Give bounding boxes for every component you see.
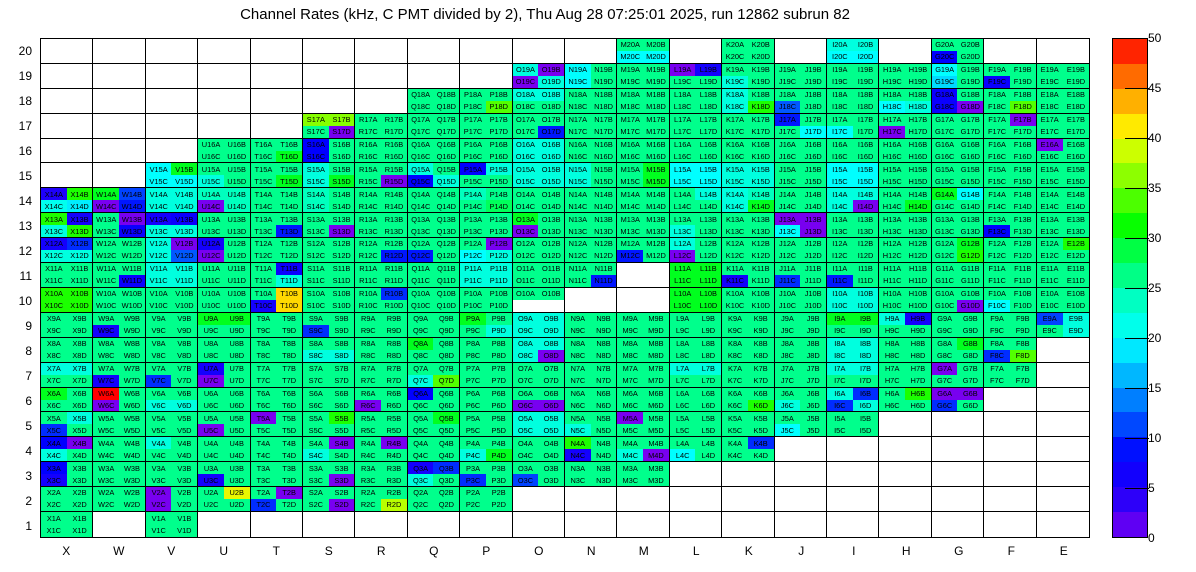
channel-subcell[interactable]: T16B	[276, 139, 302, 151]
channel-subcell[interactable]: R13C	[355, 225, 381, 237]
module-cell[interactable]: H8AH8BH8CH8D	[879, 338, 931, 363]
channel-subcell[interactable]: P13A	[460, 213, 486, 225]
channel-subcell[interactable]: E19A	[1037, 64, 1063, 76]
module-cell[interactable]: Q16AQ16BQ16CQ16D	[408, 139, 460, 164]
channel-subcell[interactable]: S11D	[329, 275, 355, 287]
channel-subcell[interactable]: T5C	[251, 424, 277, 436]
channel-subcell[interactable]: V13B	[171, 213, 197, 225]
channel-subcell[interactable]: P17D	[486, 126, 512, 138]
channel-subcell[interactable]: M9B	[643, 313, 669, 325]
channel-subcell[interactable]: G20C	[932, 51, 958, 63]
channel-subcell[interactable]: S7B	[329, 363, 355, 375]
channel-subcell[interactable]: I6C	[827, 400, 853, 412]
module-cell[interactable]: O14AO14BO14CO14D	[513, 188, 565, 213]
channel-subcell[interactable]: K12D	[748, 250, 774, 262]
module-cell[interactable]: H14AH14BH14CH14D	[879, 188, 931, 213]
channel-subcell[interactable]: I16B	[853, 139, 879, 151]
channel-subcell[interactable]: O13D	[538, 225, 564, 237]
channel-subcell[interactable]: N6A	[565, 388, 591, 400]
channel-subcell[interactable]: J16B	[800, 139, 826, 151]
module-cell[interactable]	[303, 512, 355, 537]
channel-subcell[interactable]: Q3A	[408, 462, 434, 474]
module-cell[interactable]: T16AT16BT16CT16D	[251, 139, 303, 164]
channel-subcell[interactable]: Q4C	[408, 449, 434, 461]
channel-subcell[interactable]: I18D	[853, 101, 879, 113]
channel-subcell[interactable]: L17C	[670, 126, 696, 138]
channel-subcell[interactable]: E13C	[1037, 225, 1063, 237]
channel-subcell[interactable]: S14D	[329, 200, 355, 212]
channel-subcell[interactable]: R9D	[381, 325, 407, 337]
channel-subcell[interactable]: R17B	[381, 114, 407, 126]
module-cell[interactable]: F13AF13BF13CF13D	[984, 213, 1036, 238]
channel-subcell[interactable]: X10B	[67, 288, 93, 300]
channel-subcell[interactable]: F17C	[984, 126, 1010, 138]
channel-subcell[interactable]: H8B	[905, 338, 931, 350]
channel-subcell[interactable]: W5C	[93, 424, 119, 436]
module-cell[interactable]: S10AS10BS10CS10D	[303, 288, 355, 313]
channel-subcell[interactable]: O17D	[538, 126, 564, 138]
module-cell[interactable]: E9AE9BE9CE9D	[1037, 313, 1089, 338]
channel-subcell[interactable]: W6D	[119, 400, 145, 412]
channel-subcell[interactable]: W3D	[119, 474, 145, 486]
channel-subcell[interactable]: E11C	[1037, 275, 1063, 287]
module-cell[interactable]	[932, 462, 984, 487]
module-cell[interactable]: H12AH12BH12CH12D	[879, 238, 931, 263]
channel-subcell[interactable]: S6C	[303, 400, 329, 412]
channel-subcell[interactable]: I12C	[827, 250, 853, 262]
channel-subcell[interactable]: M6A	[617, 388, 643, 400]
module-cell[interactable]: I6AI6BI6CI6D	[827, 388, 879, 413]
module-cell[interactable]: X11AX11BX11CX11D	[41, 263, 93, 288]
module-cell[interactable]: R10AR10BR10CR10D	[355, 288, 407, 313]
module-cell[interactable]: T12AT12BT12CT12D	[251, 238, 303, 263]
channel-subcell[interactable]: S10C	[303, 300, 329, 312]
module-cell[interactable]: O6AO6BO6CO6D	[513, 388, 565, 413]
module-cell[interactable]: L16AL16BL16CL16D	[670, 139, 722, 164]
channel-subcell[interactable]: O6D	[538, 400, 564, 412]
module-cell[interactable]: V12AV12BV12CV12D	[146, 238, 198, 263]
module-cell[interactable]: M12AM12BM12CM12D	[617, 238, 669, 263]
channel-subcell[interactable]: U4C	[198, 449, 224, 461]
channel-subcell[interactable]: K5C	[722, 424, 748, 436]
channel-subcell[interactable]: K10B	[748, 288, 774, 300]
channel-subcell[interactable]: T2D	[276, 499, 302, 511]
channel-subcell[interactable]: X1B	[67, 512, 93, 524]
module-cell[interactable]: K15AK15BK15CK15D	[722, 163, 774, 188]
channel-subcell[interactable]: V9A	[146, 313, 172, 325]
channel-subcell[interactable]: V4B	[171, 437, 197, 449]
channel-subcell[interactable]: K14D	[748, 200, 774, 212]
channel-subcell[interactable]: E16D	[1063, 151, 1089, 163]
module-cell[interactable]: J5AJ5BJ5CJ5D	[775, 412, 827, 437]
channel-subcell[interactable]: I20C	[827, 51, 853, 63]
channel-subcell[interactable]: K4C	[722, 449, 748, 461]
channel-subcell[interactable]: R4A	[355, 437, 381, 449]
module-cell[interactable]	[879, 437, 931, 462]
module-cell[interactable]: W13AW13BW13CW13D	[93, 213, 145, 238]
channel-subcell[interactable]: L9A	[670, 313, 696, 325]
channel-subcell[interactable]: N7D	[591, 375, 617, 387]
channel-subcell[interactable]: Q16D	[433, 151, 459, 163]
channel-subcell[interactable]: N12A	[565, 238, 591, 250]
channel-subcell[interactable]: X9D	[67, 325, 93, 337]
module-cell[interactable]: M16AM16BM16CM16D	[617, 139, 669, 164]
channel-subcell[interactable]: U7D	[224, 375, 250, 387]
channel-subcell[interactable]: I10D	[853, 300, 879, 312]
module-cell[interactable]: S3AS3BS3CS3D	[303, 462, 355, 487]
channel-subcell[interactable]: F16C	[984, 151, 1010, 163]
module-cell[interactable]: Q17AQ17BQ17CQ17D	[408, 114, 460, 139]
module-cell[interactable]: J10AJ10BJ10CJ10D	[775, 288, 827, 313]
channel-subcell[interactable]: U14C	[198, 200, 224, 212]
channel-subcell[interactable]: S14C	[303, 200, 329, 212]
channel-subcell[interactable]: L11D	[695, 275, 721, 287]
channel-subcell[interactable]: T7A	[251, 363, 277, 375]
channel-subcell[interactable]: M5A	[617, 412, 643, 424]
channel-subcell[interactable]: P16D	[486, 151, 512, 163]
channel-subcell[interactable]: T2C	[251, 499, 277, 511]
module-cell[interactable]: T14AT14BT14CT14D	[251, 188, 303, 213]
module-cell[interactable]: X2AX2BX2CX2D	[41, 487, 93, 512]
channel-subcell[interactable]: J18C	[775, 101, 801, 113]
channel-subcell[interactable]: V3A	[146, 462, 172, 474]
channel-subcell[interactable]: J13C	[775, 225, 801, 237]
module-cell[interactable]: X6AX6BX6CX6D	[41, 388, 93, 413]
module-cell[interactable]: Q2AQ2BQ2CQ2D	[408, 487, 460, 512]
channel-subcell[interactable]: O12C	[513, 250, 539, 262]
channel-subcell[interactable]: F18A	[984, 89, 1010, 101]
module-cell[interactable]: H9AH9BH9CH9D	[879, 313, 931, 338]
channel-subcell[interactable]: W8B	[119, 338, 145, 350]
module-cell[interactable]: U2AU2BU2CU2D	[198, 487, 250, 512]
channel-subcell[interactable]: V1A	[146, 512, 172, 524]
channel-subcell[interactable]: N19D	[591, 76, 617, 88]
module-cell[interactable]: K20AK20BK20CK20D	[722, 39, 774, 64]
channel-subcell[interactable]: R15D	[381, 175, 407, 187]
channel-subcell[interactable]: E17D	[1063, 126, 1089, 138]
module-cell[interactable]: O4AO4BO4CO4D	[513, 437, 565, 462]
channel-subcell[interactable]: S13C	[303, 225, 329, 237]
channel-subcell[interactable]: G13C	[932, 225, 958, 237]
channel-subcell[interactable]: R7C	[355, 375, 381, 387]
channel-subcell[interactable]: I5A	[827, 412, 853, 424]
module-cell[interactable]: W3AW3BW3CW3D	[93, 462, 145, 487]
channel-subcell[interactable]: G14B	[957, 188, 983, 200]
channel-subcell[interactable]: J15B	[800, 163, 826, 175]
channel-subcell[interactable]: Q5D	[433, 424, 459, 436]
module-cell[interactable]: P9AP9BP9CP9D	[460, 313, 512, 338]
channel-subcell[interactable]: W14D	[119, 200, 145, 212]
channel-subcell[interactable]: L17A	[670, 114, 696, 126]
channel-subcell[interactable]: S15B	[329, 163, 355, 175]
channel-subcell[interactable]: L14C	[670, 200, 696, 212]
channel-subcell[interactable]: I8D	[853, 350, 879, 362]
module-cell[interactable]: F8AF8BF8CF8D	[984, 338, 1036, 363]
channel-subcell[interactable]: M19C	[617, 76, 643, 88]
channel-subcell[interactable]: I8B	[853, 338, 879, 350]
channel-subcell[interactable]: E12D	[1063, 250, 1089, 262]
channel-subcell[interactable]: X1A	[41, 512, 67, 524]
channel-subcell[interactable]: U16D	[224, 151, 250, 163]
channel-subcell[interactable]: G20D	[957, 51, 983, 63]
channel-subcell[interactable]: N14D	[591, 200, 617, 212]
channel-subcell[interactable]: U5C	[198, 424, 224, 436]
channel-subcell[interactable]: N8B	[591, 338, 617, 350]
channel-subcell[interactable]: S3C	[303, 474, 329, 486]
module-cell[interactable]	[984, 39, 1036, 64]
channel-subcell[interactable]: T5A	[251, 412, 277, 424]
module-cell[interactable]	[1037, 437, 1089, 462]
channel-subcell[interactable]: U13C	[198, 225, 224, 237]
channel-subcell[interactable]: G8B	[957, 338, 983, 350]
module-cell[interactable]: J13AJ13BJ13CJ13D	[775, 213, 827, 238]
channel-subcell[interactable]: O12D	[538, 250, 564, 262]
channel-subcell[interactable]: I18B	[853, 89, 879, 101]
module-cell[interactable]: M4AM4BM4CM4D	[617, 437, 669, 462]
channel-subcell[interactable]: P17C	[460, 126, 486, 138]
module-cell[interactable]: X14AX14BX14CX14D	[41, 188, 93, 213]
channel-subcell[interactable]: W9C	[93, 325, 119, 337]
channel-subcell[interactable]: P11A	[460, 263, 486, 275]
channel-subcell[interactable]: N17C	[565, 126, 591, 138]
channel-subcell[interactable]: F19B	[1010, 64, 1036, 76]
channel-subcell[interactable]: O15D	[538, 175, 564, 187]
channel-subcell[interactable]: S4D	[329, 449, 355, 461]
channel-subcell[interactable]: E14A	[1037, 188, 1063, 200]
channel-subcell[interactable]: N7A	[565, 363, 591, 375]
channel-subcell[interactable]: N15A	[565, 163, 591, 175]
module-cell[interactable]: K8AK8BK8CK8D	[722, 338, 774, 363]
channel-subcell[interactable]: Q4A	[408, 437, 434, 449]
channel-subcell[interactable]: N16B	[591, 139, 617, 151]
channel-subcell[interactable]: I13C	[827, 225, 853, 237]
channel-subcell[interactable]: G12C	[932, 250, 958, 262]
channel-subcell[interactable]: M14A	[617, 188, 643, 200]
channel-subcell[interactable]: V12A	[146, 238, 172, 250]
module-cell[interactable]: U13AU13BU13CU13D	[198, 213, 250, 238]
channel-subcell[interactable]: V13C	[146, 225, 172, 237]
channel-subcell[interactable]: U9C	[198, 325, 224, 337]
channel-subcell[interactable]: G13D	[957, 225, 983, 237]
channel-subcell[interactable]: I5D	[853, 424, 879, 436]
module-cell[interactable]: T10AT10BT10CT10D	[251, 288, 303, 313]
channel-subcell[interactable]: U12B	[224, 238, 250, 250]
channel-subcell[interactable]: E11A	[1037, 263, 1063, 275]
module-cell[interactable]: J12AJ12BJ12CJ12D	[775, 238, 827, 263]
module-cell[interactable]: P11AP11BP11CP11D	[460, 263, 512, 288]
module-cell[interactable]	[355, 89, 407, 114]
channel-subcell[interactable]: W12D	[119, 250, 145, 262]
module-cell[interactable]	[565, 487, 617, 512]
channel-subcell[interactable]: M19A	[617, 64, 643, 76]
module-cell[interactable]: O9AO9BO9CO9D	[513, 313, 565, 338]
channel-subcell[interactable]: F16A	[984, 139, 1010, 151]
channel-subcell[interactable]: P7A	[460, 363, 486, 375]
module-cell[interactable]	[932, 512, 984, 537]
channel-subcell[interactable]: P5D	[486, 424, 512, 436]
channel-subcell[interactable]: K7C	[722, 375, 748, 387]
channel-subcell[interactable]: H9B	[905, 313, 931, 325]
channel-subcell[interactable]: V5C	[146, 424, 172, 436]
channel-subcell[interactable]: V8C	[146, 350, 172, 362]
module-cell[interactable]: O13AO13BO13CO13D	[513, 213, 565, 238]
module-cell[interactable]	[775, 512, 827, 537]
channel-subcell[interactable]: U15B	[224, 163, 250, 175]
channel-subcell[interactable]: T16C	[251, 151, 277, 163]
module-cell[interactable]: T7AT7BT7CT7D	[251, 363, 303, 388]
channel-subcell[interactable]: M9C	[617, 325, 643, 337]
channel-subcell[interactable]: I14D	[853, 200, 879, 212]
channel-subcell[interactable]: Q10A	[408, 288, 434, 300]
channel-subcell[interactable]: F11B	[1010, 263, 1036, 275]
channel-subcell[interactable]: S13D	[329, 225, 355, 237]
channel-subcell[interactable]: L10B	[695, 288, 721, 300]
module-cell[interactable]: W6AW6BW6CW6D	[93, 388, 145, 413]
channel-subcell[interactable]: T7C	[251, 375, 277, 387]
channel-subcell[interactable]: V5D	[171, 424, 197, 436]
channel-subcell[interactable]: P7D	[486, 375, 512, 387]
channel-subcell[interactable]: N19C	[565, 76, 591, 88]
channel-subcell[interactable]: G18C	[932, 101, 958, 113]
module-cell[interactable]	[93, 64, 145, 89]
module-cell[interactable]: O10AO10B	[513, 288, 565, 313]
channel-subcell[interactable]: G8A	[932, 338, 958, 350]
module-cell[interactable]: X12AX12BX12CX12D	[41, 238, 93, 263]
channel-subcell[interactable]: Q18D	[433, 101, 459, 113]
module-cell[interactable]: M7AM7BM7CM7D	[617, 363, 669, 388]
channel-subcell[interactable]: J8A	[775, 338, 801, 350]
channel-subcell[interactable]: J11B	[800, 263, 826, 275]
channel-subcell[interactable]: L6C	[670, 400, 696, 412]
channel-subcell[interactable]: J17B	[800, 114, 826, 126]
channel-subcell[interactable]: U10C	[198, 300, 224, 312]
channel-subcell[interactable]: F13B	[1010, 213, 1036, 225]
channel-subcell[interactable]: G9C	[932, 325, 958, 337]
channel-subcell[interactable]: K15D	[748, 175, 774, 187]
channel-subcell[interactable]: I12B	[853, 238, 879, 250]
channel-subcell[interactable]: L4B	[695, 437, 721, 449]
module-cell[interactable]: L12AL12BL12CL12D	[670, 238, 722, 263]
channel-subcell[interactable]: M4D	[643, 449, 669, 461]
module-cell[interactable]: P3AP3BP3CP3D	[460, 462, 512, 487]
module-cell[interactable]: J7AJ7BJ7CJ7D	[775, 363, 827, 388]
channel-subcell[interactable]: G19D	[957, 76, 983, 88]
module-cell[interactable]: O3AO3BO3CO3D	[513, 462, 565, 487]
channel-subcell[interactable]: M8B	[643, 338, 669, 350]
module-cell[interactable]: H11AH11BH11CH11D	[879, 263, 931, 288]
channel-subcell[interactable]: O11A	[513, 263, 539, 275]
module-cell[interactable]: O7AO7BO7CO7D	[513, 363, 565, 388]
module-cell[interactable]: W7AW7BW7CW7D	[93, 363, 145, 388]
channel-subcell[interactable]: Q4B	[433, 437, 459, 449]
channel-subcell[interactable]: E10C	[1037, 300, 1063, 312]
channel-subcell[interactable]: Q14C	[408, 200, 434, 212]
channel-subcell[interactable]: G14A	[932, 188, 958, 200]
channel-subcell[interactable]: W10D	[119, 300, 145, 312]
channel-subcell[interactable]: R17D	[381, 126, 407, 138]
channel-subcell[interactable]: R5A	[355, 412, 381, 424]
module-cell[interactable]: M9AM9BM9CM9D	[617, 313, 669, 338]
module-cell[interactable]: H13AH13BH13CH13D	[879, 213, 931, 238]
channel-subcell[interactable]: V12D	[171, 250, 197, 262]
channel-subcell[interactable]: Q7C	[408, 375, 434, 387]
channel-subcell[interactable]: O16D	[538, 151, 564, 163]
channel-subcell[interactable]: G8C	[932, 350, 958, 362]
channel-subcell[interactable]: U14A	[198, 188, 224, 200]
channel-subcell[interactable]: E15C	[1037, 175, 1063, 187]
channel-subcell[interactable]: F8D	[1010, 350, 1036, 362]
channel-subcell[interactable]: O8A	[513, 338, 539, 350]
channel-subcell[interactable]: M3B	[643, 462, 669, 474]
channel-subcell[interactable]: I15B	[853, 163, 879, 175]
channel-subcell[interactable]: L6D	[695, 400, 721, 412]
channel-subcell[interactable]: N3B	[591, 462, 617, 474]
module-cell[interactable]	[984, 462, 1036, 487]
channel-subcell[interactable]: G11C	[932, 275, 958, 287]
channel-subcell[interactable]: M4A	[617, 437, 643, 449]
channel-subcell[interactable]: T5B	[276, 412, 302, 424]
channel-subcell[interactable]: P11C	[460, 275, 486, 287]
channel-subcell[interactable]: E10B	[1063, 288, 1089, 300]
channel-subcell[interactable]: L16A	[670, 139, 696, 151]
channel-subcell[interactable]: P15B	[486, 163, 512, 175]
channel-subcell[interactable]: F12C	[984, 250, 1010, 262]
channel-subcell[interactable]: K12A	[722, 238, 748, 250]
module-cell[interactable]: K7AK7BK7CK7D	[722, 363, 774, 388]
channel-subcell[interactable]: M14B	[643, 188, 669, 200]
module-cell[interactable]: Q18AQ18BQ18CQ18D	[408, 89, 460, 114]
module-cell[interactable]: G12AG12BG12CG12D	[932, 238, 984, 263]
channel-subcell[interactable]: M18A	[617, 89, 643, 101]
channel-subcell[interactable]: T8A	[251, 338, 277, 350]
channel-subcell[interactable]: M16D	[643, 151, 669, 163]
channel-subcell[interactable]: X5A	[41, 412, 67, 424]
channel-subcell[interactable]: U13D	[224, 225, 250, 237]
module-cell[interactable]: N4AN4BN4CN4D	[565, 437, 617, 462]
channel-subcell[interactable]: P18C	[460, 101, 486, 113]
channel-subcell[interactable]: X4D	[67, 449, 93, 461]
channel-subcell[interactable]: U11A	[198, 263, 224, 275]
channel-subcell[interactable]: T15A	[251, 163, 277, 175]
module-cell[interactable]	[722, 487, 774, 512]
channel-subcell[interactable]: Q7A	[408, 363, 434, 375]
channel-subcell[interactable]: H13C	[879, 225, 905, 237]
channel-subcell[interactable]: T3B	[276, 462, 302, 474]
channel-subcell[interactable]: L11C	[670, 275, 696, 287]
channel-subcell[interactable]: S9C	[303, 325, 329, 337]
channel-subcell[interactable]: R8B	[381, 338, 407, 350]
channel-subcell[interactable]: L12C	[670, 250, 696, 262]
channel-subcell[interactable]: P3A	[460, 462, 486, 474]
channel-subcell[interactable]: L19B	[695, 64, 721, 76]
channel-subcell[interactable]: I17B	[853, 114, 879, 126]
channel-subcell[interactable]: M5D	[643, 424, 669, 436]
channel-subcell[interactable]: M15D	[643, 175, 669, 187]
channel-subcell[interactable]: W11A	[93, 263, 119, 275]
channel-subcell[interactable]: P2B	[486, 487, 512, 499]
channel-subcell[interactable]: K14A	[722, 188, 748, 200]
module-cell[interactable]	[93, 163, 145, 188]
channel-subcell[interactable]: X8B	[67, 338, 93, 350]
channel-subcell[interactable]: E13D	[1063, 225, 1089, 237]
channel-subcell[interactable]: N13A	[565, 213, 591, 225]
channel-subcell[interactable]: N3C	[565, 474, 591, 486]
module-cell[interactable]	[722, 462, 774, 487]
channel-subcell[interactable]: R12D	[381, 250, 407, 262]
channel-subcell[interactable]: U3C	[198, 474, 224, 486]
module-cell[interactable]: E11AE11BE11CE11D	[1037, 263, 1089, 288]
module-cell[interactable]: E17AE17BE17CE17D	[1037, 114, 1089, 139]
